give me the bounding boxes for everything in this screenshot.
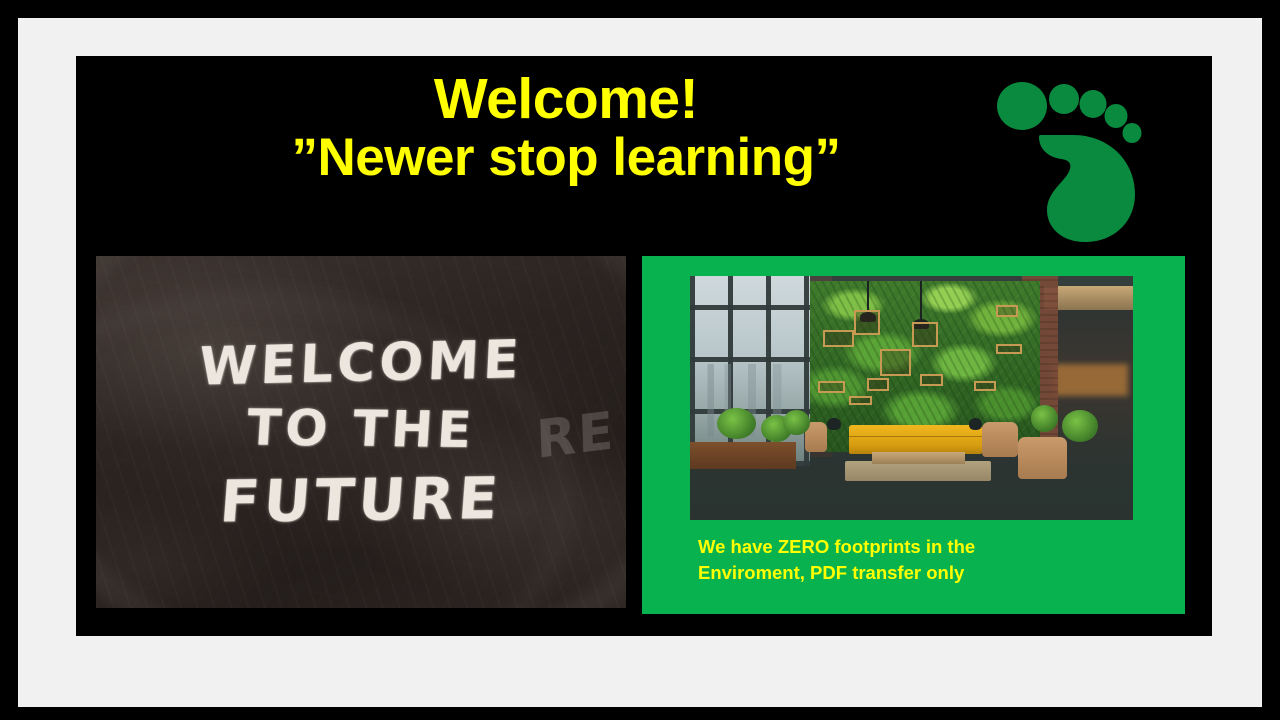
photo-coffee-table [872, 452, 965, 464]
photo-potted-plant [1062, 410, 1097, 442]
caption-line-1: We have ZERO footprints in the [698, 534, 1128, 560]
photo-wall-box [849, 396, 871, 406]
photo-wood-bench [690, 442, 796, 469]
photo-lounge-chair [1018, 437, 1067, 478]
photo-potted-plant [1031, 405, 1058, 432]
presentation-slide: Welcome! ”Newer stop learning” [76, 56, 1212, 636]
title-line-2: ”Newer stop learning” [76, 131, 1056, 186]
loft-interior-photo [690, 276, 1133, 520]
photo-wall-box [823, 330, 854, 347]
photo-lounge-chair [982, 422, 1017, 456]
photo-wall-box [854, 310, 881, 334]
caption-block: We have ZERO footprints in the Enviromen… [698, 534, 1128, 587]
chalk-line-3: FUTURE [218, 464, 505, 536]
green-panel: We have ZERO footprints in the Enviromen… [642, 256, 1185, 614]
photo-wall-box [867, 378, 889, 390]
photo-wall-box [974, 381, 996, 391]
chalkboard-text: WELCOME TO THE FUTURE [96, 256, 626, 608]
photo-wall-box [880, 349, 911, 376]
photo-yellow-sofa [849, 425, 982, 454]
photo-wall-box [920, 374, 942, 386]
photo-wall-box [996, 305, 1018, 317]
photo-table-lamp [827, 418, 840, 430]
title-line-1: Welcome! [76, 70, 1056, 129]
caption-line-2: Enviroment, PDF transfer only [698, 560, 1128, 586]
photo-wall-box [818, 381, 845, 393]
chalk-line-1: WELCOME [198, 330, 524, 397]
photo-wall-box [912, 322, 939, 346]
photo-pendant-lamp [867, 281, 869, 313]
photo-wall-box [996, 344, 1023, 354]
photo-pendant-lamp [920, 281, 922, 320]
photo-area-rug [845, 461, 991, 481]
photo-potted-plant [783, 410, 810, 434]
chalk-line-2: TO THE [245, 399, 477, 459]
photo-table-lamp [969, 418, 982, 430]
footprint-icon [985, 62, 1150, 247]
title-block: Welcome! ”Newer stop learning” [76, 70, 1056, 185]
chalkboard-image: RE WELCOME TO THE FUTURE [96, 256, 626, 608]
slide-canvas: Welcome! ”Newer stop learning” [0, 0, 1280, 720]
